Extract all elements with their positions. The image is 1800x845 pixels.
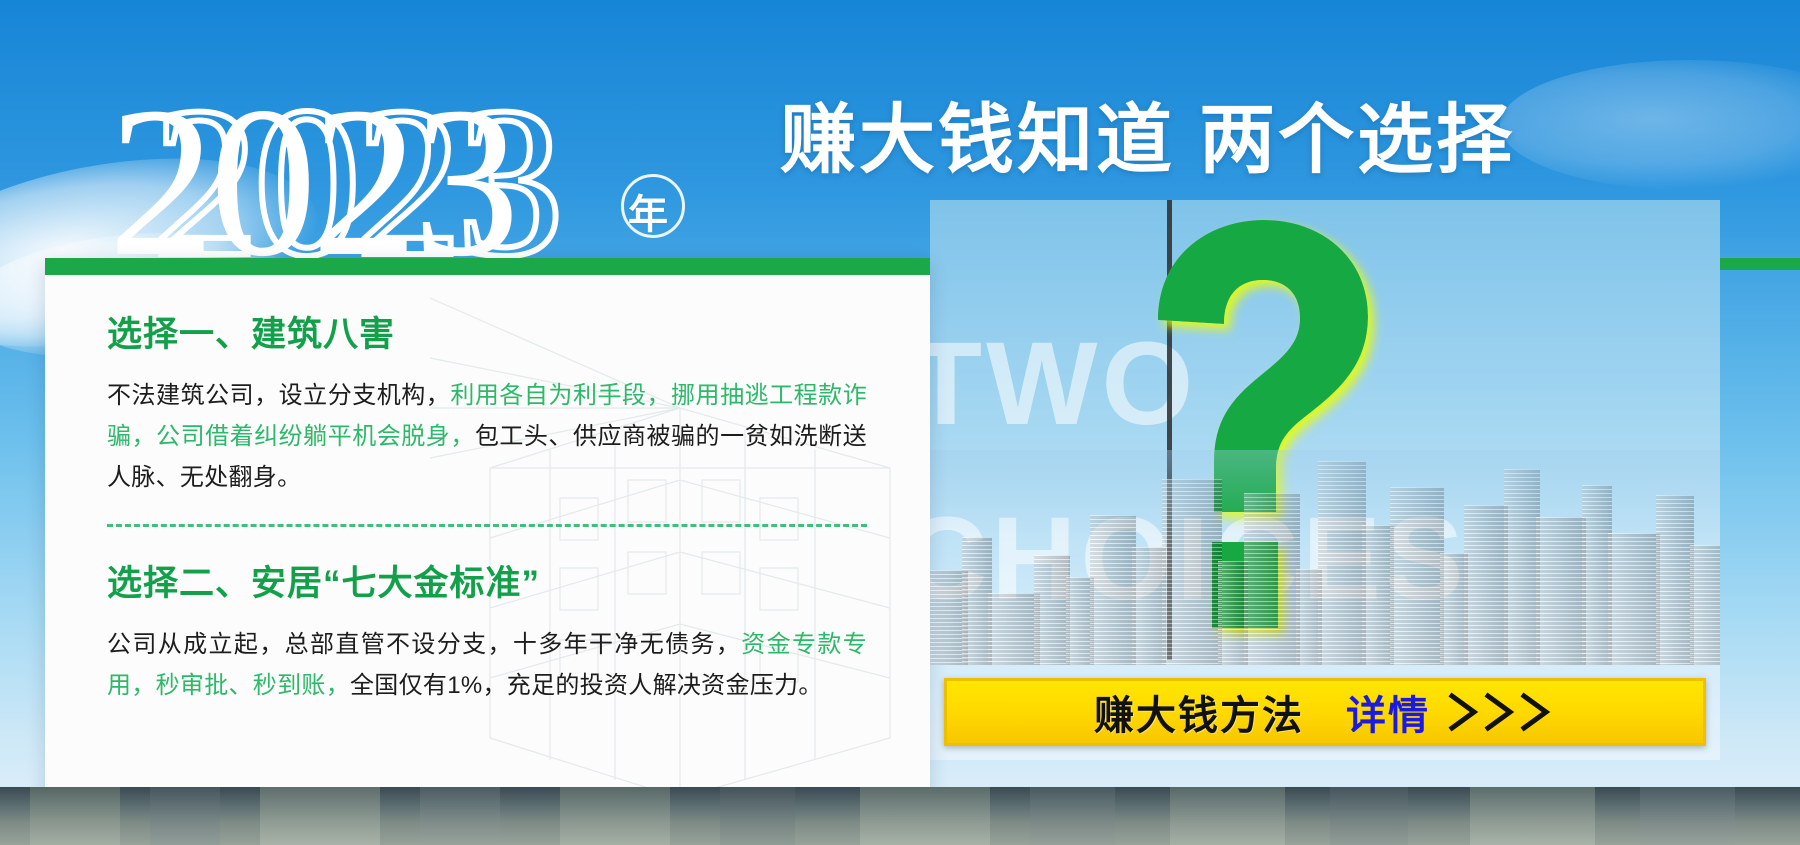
section-one-title: 选择一、建筑八害 (107, 306, 867, 357)
city-skyline-photo (930, 450, 1720, 665)
choices-card: 选择一、建筑八害 不法建筑公司，设立分支机构，利用各自为利手段，挪用抽逃工程款诈… (45, 258, 930, 803)
cta-main-label: 赚大钱方法 (1094, 683, 1304, 741)
cta-detail-group[interactable]: 详情 (1346, 683, 1556, 741)
bottom-reflection-strip (0, 787, 1800, 845)
section-divider (107, 524, 867, 527)
section-two-title: 选择二、安居“七大金标准” (107, 555, 867, 606)
section-two-body: 公司从成立起，总部直管不设分支，十多年干净无债务，资金专款专用，秒审批、秒到账，… (107, 624, 867, 706)
cloud-decoration (1500, 60, 1800, 190)
chevron-right-icon (1444, 690, 1556, 734)
banner-canvas: .solid { fill:#ffffff; } .hollow { fill:… (0, 0, 1800, 845)
year-numeral: .solid { fill:#ffffff; } .hollow { fill:… (108, 58, 728, 278)
section-two: 选择二、安居“七大金标准” 公司从成立起，总部直管不设分支，十多年干净无债务，资… (107, 555, 867, 706)
section-one-text-a: 不法建筑公司，设立分支机构， (107, 382, 450, 409)
choices-panel: TWO CHOICES (930, 200, 1720, 760)
card-content: 选择一、建筑八害 不法建筑公司，设立分支机构，利用各自为利手段，挪用抽逃工程款诈… (107, 306, 867, 706)
skyline-haze (930, 450, 1720, 665)
year-suffix-label: 年 (628, 182, 668, 240)
green-edge-accent (1720, 258, 1800, 270)
section-two-text-b: 全国仅有1%，充足的投资人解决资金压力。 (350, 672, 823, 699)
page-title: 赚大钱知道 两个选择 (780, 78, 1515, 188)
section-one-body: 不法建筑公司，设立分支机构，利用各自为利手段，挪用抽逃工程款诈骗，公司借着纠纷躺… (107, 375, 867, 498)
cta-button[interactable]: 赚大钱方法 详情 (944, 678, 1706, 746)
section-one: 选择一、建筑八害 不法建筑公司，设立分支机构，利用各自为利手段，挪用抽逃工程款诈… (107, 306, 867, 498)
section-two-text-a: 公司从成立起，总部直管不设分支，十多年干净无债务， (107, 631, 741, 658)
cta-detail-label: 详情 (1346, 683, 1430, 741)
